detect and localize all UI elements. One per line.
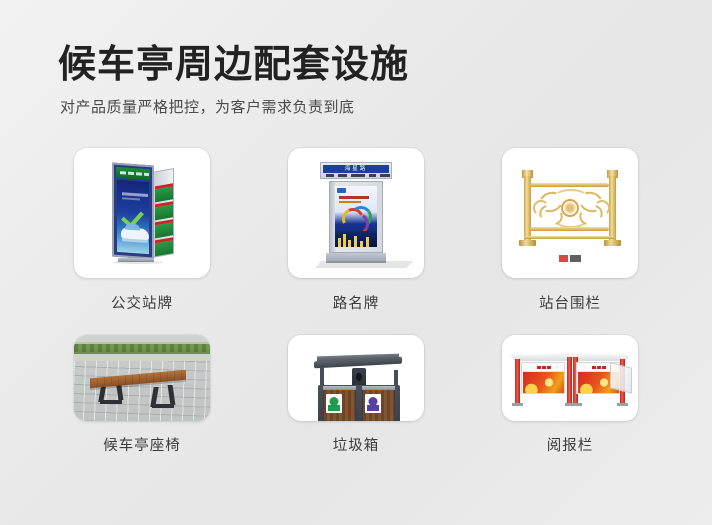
product-label: 路名牌 [333,295,380,313]
street-sign-text: 海星路 [345,166,368,172]
product-row-2: 候车亭座椅 [62,335,650,455]
product-item-platform-railing[interactable]: 站台围栏 [490,148,650,313]
non-recyclable-label [365,394,381,413]
reading-board-icon [502,335,638,421]
product-grid: 公交站牌 海星路 [62,148,650,455]
shelter-bench-photo [74,335,210,421]
product-row-1: 公交站牌 海星路 [62,148,650,313]
product-item-trash-bin[interactable]: 垃圾箱 [276,335,436,455]
product-label: 阅报栏 [547,437,594,455]
product-label: 公交站牌 [111,295,173,313]
product-showcase-page: 候车亭周边配套设施 对产品质量严格把控，为客户需求负责到底 [0,0,712,525]
trash-bin-icon [288,335,424,421]
street-name-sign-icon: 海星路 [288,148,424,278]
product-item-reading-board[interactable]: 阅报栏 [490,335,650,455]
product-label: 垃圾箱 [333,437,380,455]
page-header: 候车亭周边配套设施 对产品质量严格把控，为客户需求负责到底 [58,42,658,118]
product-item-street-name-sign[interactable]: 海星路 [276,148,436,313]
product-label: 候车亭座椅 [103,437,181,455]
product-item-shelter-bench[interactable]: 候车亭座椅 [62,335,222,455]
watermark-logo [559,255,581,262]
product-image-card[interactable] [502,148,638,278]
product-image-card[interactable] [502,335,638,421]
product-image-card[interactable] [74,148,210,278]
product-image-card[interactable] [288,335,424,421]
recyclable-label [326,394,342,413]
product-image-card[interactable] [74,335,210,421]
product-image-card[interactable]: 海星路 [288,148,424,278]
page-subtitle: 对产品质量严格把控，为客户需求负责到底 [60,98,658,118]
product-item-bus-stop-sign[interactable]: 公交站牌 [62,148,222,313]
bus-stop-sign-icon [74,148,210,278]
platform-railing-icon [502,148,638,278]
page-title: 候车亭周边配套设施 [58,42,658,88]
product-label: 站台围栏 [539,295,601,313]
